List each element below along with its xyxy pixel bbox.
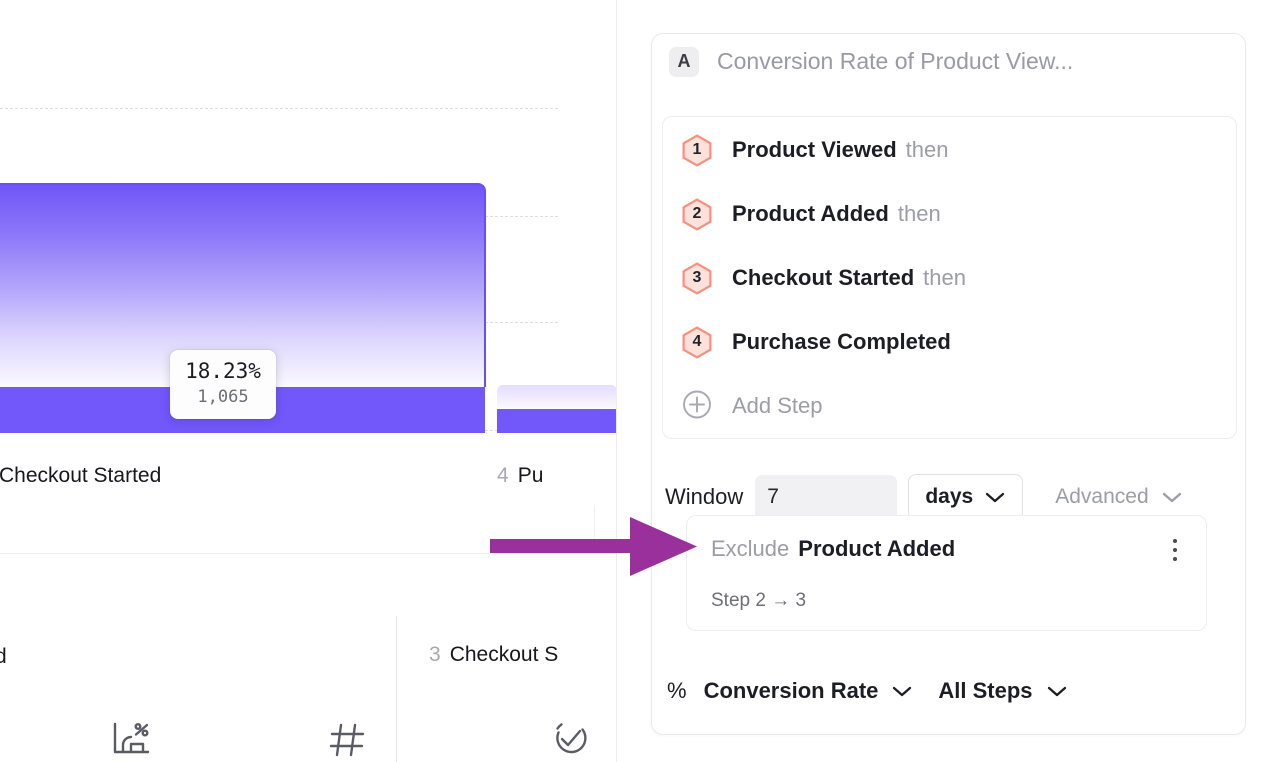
main-vertical-divider — [616, 0, 617, 762]
exclusion-event-name: Product Added — [798, 536, 955, 562]
x-axis-label-text: Pu — [518, 464, 544, 487]
summary-right-text: Checkout S — [450, 643, 559, 666]
funnel-bar-ghost — [497, 385, 617, 409]
conversion-window-row: Window days Advanced — [665, 474, 1183, 520]
x-axis-label-text: Checkout Started — [0, 464, 161, 487]
chart-gridline — [0, 108, 558, 109]
summary-right-index: 3 — [429, 643, 441, 666]
metric-selector-row: % Conversion Rate All Steps — [667, 678, 1068, 704]
chevron-down-icon — [984, 490, 1006, 504]
funnel-steps-card: 1 Product Viewed then 2 Product Added th… — [662, 116, 1237, 439]
kebab-dot — [1173, 539, 1177, 543]
advanced-label: Advanced — [1055, 485, 1148, 509]
x-axis-label-index: 4 — [497, 464, 509, 487]
step-connector: then — [898, 201, 941, 227]
window-label: Window — [665, 484, 743, 510]
bar-chart-percent-icon[interactable] — [110, 720, 152, 762]
x-axis-label-purchase-completed: 4Pu — [497, 464, 543, 488]
step-event-name: Checkout Started — [732, 265, 914, 291]
step-event-name: Product Viewed — [732, 137, 897, 163]
hash-icon[interactable] — [328, 722, 368, 762]
funnel-step-3[interactable]: 3 Checkout Started then — [682, 261, 966, 295]
funnel-step-2[interactable]: 2 Product Added then — [682, 197, 941, 231]
step-number: 2 — [693, 206, 702, 222]
funnel-bar-purchase-completed[interactable] — [497, 385, 617, 433]
check-circle-dashed-icon[interactable] — [549, 720, 591, 762]
window-unit-select[interactable]: days — [908, 474, 1023, 520]
query-builder-panel: A Conversion Rate of Product View... 1 P… — [651, 33, 1246, 735]
window-value-input[interactable] — [755, 475, 897, 520]
chevron-down-icon — [1161, 490, 1183, 504]
step-number: 1 — [693, 142, 702, 158]
funnel-bar-fill — [497, 409, 617, 433]
step-event-name: Purchase Completed — [732, 329, 951, 355]
plus-circle-icon — [682, 389, 712, 422]
x-axis-label-checkout-started: Checkout Started — [0, 464, 161, 488]
metric-scope-value: All Steps — [938, 678, 1032, 704]
panel-header: A Conversion Rate of Product View... — [652, 34, 1245, 89]
add-step-button[interactable]: Add Step — [682, 389, 823, 422]
summary-divider — [396, 616, 397, 762]
exclusion-prefix-label: Exclude — [711, 536, 789, 562]
funnel-step-1[interactable]: 1 Product Viewed then — [682, 133, 948, 167]
kebab-dot — [1173, 557, 1177, 561]
chevron-down-icon — [891, 684, 913, 698]
step-number: 4 — [693, 334, 702, 350]
exclusion-range-label: Step 2 → 3 — [711, 590, 806, 612]
summary-right-label: 3Checkout S — [429, 643, 558, 667]
app-root: 18.23% 1,065 Checkout Started 4Pu d 3Che… — [0, 0, 1264, 762]
step-number-badge: 1 — [682, 134, 712, 167]
exclusion-step-card[interactable]: Exclude Product Added Step 2 → 3 — [686, 515, 1207, 631]
step-number: 3 — [693, 270, 702, 286]
funnel-step-4[interactable]: 4 Purchase Completed — [682, 325, 960, 359]
chart-card-divider — [0, 553, 617, 554]
summary-left-text: d — [0, 645, 7, 668]
more-options-icon[interactable] — [1164, 536, 1186, 564]
query-letter-badge: A — [669, 47, 699, 77]
add-step-label: Add Step — [732, 393, 823, 419]
step-number-badge: 3 — [682, 262, 712, 295]
step-connector: then — [906, 137, 949, 163]
chart-card-edge — [594, 505, 595, 554]
tooltip-percent: 18.23% — [178, 360, 268, 383]
bar-tooltip: 18.23% 1,065 — [170, 350, 276, 419]
step-number-badge: 4 — [682, 326, 712, 359]
tooltip-count: 1,065 — [178, 388, 268, 407]
step-event-name: Product Added — [732, 201, 889, 227]
percent-icon: % — [667, 678, 687, 704]
exclusion-title-row: Exclude Product Added — [711, 536, 1186, 562]
summary-left-label: d — [0, 645, 7, 669]
metric-type-select[interactable]: Conversion Rate — [704, 678, 914, 704]
query-title[interactable]: Conversion Rate of Product View... — [717, 48, 1073, 75]
step-number-badge: 2 — [682, 198, 712, 231]
advanced-options-button[interactable]: Advanced — [1055, 485, 1182, 509]
metric-type-value: Conversion Rate — [704, 678, 879, 704]
funnel-chart-region: 18.23% 1,065 Checkout Started 4Pu d 3Che… — [0, 0, 617, 762]
step-connector: then — [923, 265, 966, 291]
window-unit-value: days — [925, 485, 973, 509]
metric-scope-select[interactable]: All Steps — [938, 678, 1067, 704]
kebab-dot — [1173, 548, 1177, 552]
chevron-down-icon — [1046, 684, 1068, 698]
